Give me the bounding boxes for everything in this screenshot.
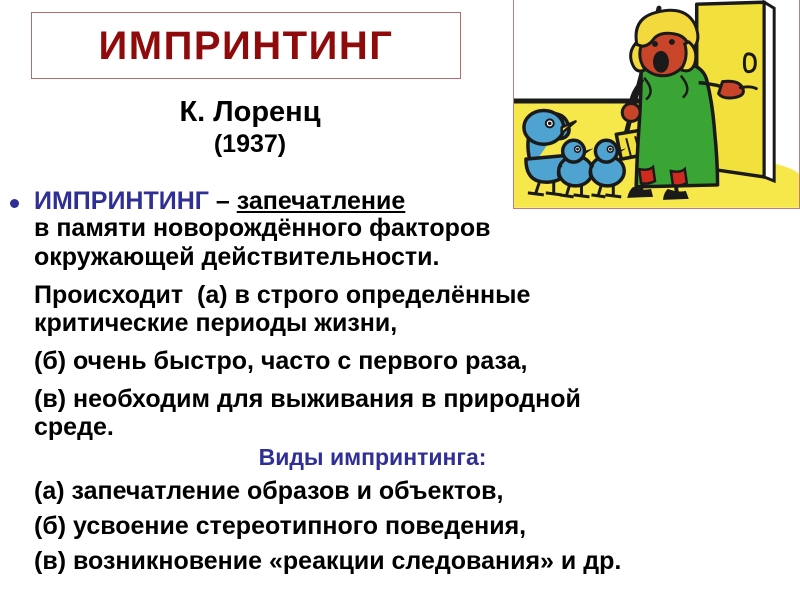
definition-line-1: ИМПРИНТИНГ – запечатление [34, 188, 405, 214]
definition-line-2: в памяти новорождённого факторов [34, 215, 491, 241]
bullet-point-icon [10, 199, 19, 208]
type-item-3: (в) возникновение «реакции следования» и… [34, 548, 621, 574]
slide-title-box: ИМПРИНТИНГ [31, 12, 461, 79]
illustration-frame [513, 0, 800, 209]
definition-line-3: окружающей действительности. [34, 244, 439, 270]
publication-year: (1937) [0, 130, 500, 158]
type-item-2: (б) усвоение стереотипного поведения, [34, 513, 526, 539]
author-name: К. Лоренц [0, 96, 500, 128]
page-title: ИМПРИНТИНГ [99, 26, 394, 66]
definition-term: ИМПРИНТИНГ [34, 187, 209, 215]
cartoon-woman-with-broom-and-ducklings-image [514, 0, 799, 208]
definition-dash: – [209, 187, 237, 215]
property-line-1: Происходит (а) в строго определённые [34, 282, 530, 308]
types-heading: Виды импринтинга: [0, 446, 745, 470]
property-line-5: среде. [34, 414, 114, 440]
property-line-4: (в) необходим для выживания в природной [34, 386, 581, 412]
definition-underlined-word: запечатление [237, 187, 406, 215]
property-line-3: (б) очень быстро, часто с первого раза, [34, 348, 528, 374]
type-item-1: (а) запечатление образов и объектов, [34, 478, 503, 504]
property-line-2: критические периоды жизни, [34, 310, 397, 336]
